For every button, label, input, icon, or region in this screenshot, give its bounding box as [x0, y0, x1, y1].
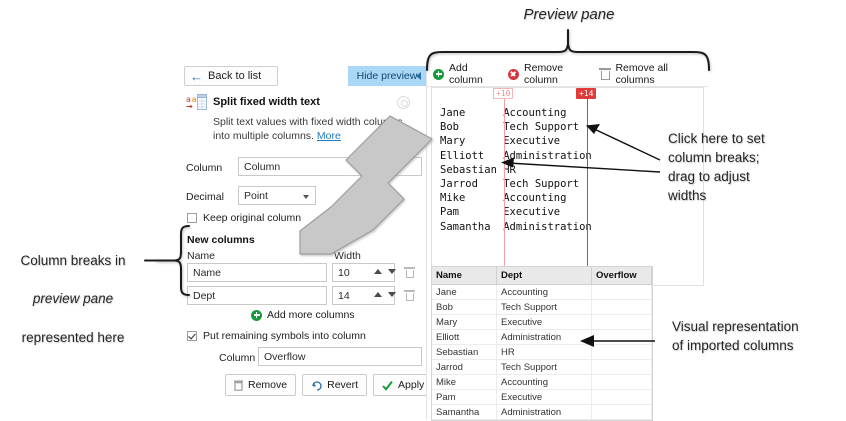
table-row[interactable]: Pam Executive	[432, 390, 652, 405]
cell-name: Samantha	[432, 405, 497, 420]
new-columns-title: New columns	[187, 234, 255, 246]
decimal-select[interactable]: Point	[238, 186, 316, 205]
cell-overflow	[592, 360, 652, 375]
table-row[interactable]: Bob Tech Support	[432, 300, 652, 315]
column-header-dept[interactable]: Dept	[497, 267, 592, 285]
cell-name: Mary	[432, 315, 497, 330]
imported-columns-grid[interactable]: Name Dept Overflow Jane Accounting Bob T…	[431, 266, 653, 421]
column-breaks-annotation-em: preview pane	[33, 291, 113, 306]
column-break-label: +10	[493, 88, 513, 99]
cell-name: Sebastian	[432, 345, 497, 360]
table-row[interactable]: Elliott Administration	[432, 330, 652, 345]
cell-dept: Executive	[497, 390, 592, 405]
hide-preview-label: Hide preview	[357, 70, 418, 82]
cell-overflow	[592, 375, 652, 390]
column-header-overflow[interactable]: Overflow	[592, 267, 652, 285]
column-header-name[interactable]: Name	[432, 267, 497, 285]
move-up-icon[interactable]	[374, 292, 382, 297]
cell-overflow	[592, 330, 652, 345]
cell-dept: HR	[497, 345, 592, 360]
move-down-icon[interactable]	[388, 292, 396, 297]
column-break-handle[interactable]: +14	[587, 96, 588, 281]
table-row[interactable]: Jarrod Tech Support	[432, 360, 652, 375]
width-column-header: Width	[334, 250, 361, 262]
plus-icon	[433, 69, 444, 80]
keep-original-column-checkbox[interactable]: Keep original column	[187, 212, 301, 224]
more-link[interactable]: More	[317, 130, 341, 142]
split-fixed-width-text-window: ← Back to list Hide preview a a Split fi…	[180, 58, 708, 419]
move-up-icon[interactable]	[374, 269, 382, 274]
new-column-width-input[interactable]: 10	[332, 263, 395, 282]
cell-name: Jane	[432, 285, 497, 300]
cell-name: Mike	[432, 375, 497, 390]
remove-button-label: Remove	[248, 379, 287, 391]
revert-button-label: Revert	[327, 379, 358, 391]
column-break-handle[interactable]: +10	[504, 96, 505, 281]
check-icon	[382, 380, 393, 391]
add-more-columns-button[interactable]: Add more columns	[251, 309, 355, 321]
cell-name: Bob	[432, 300, 497, 315]
preview-pane-annotation: Preview pane	[479, 4, 659, 25]
table-row[interactable]: Samantha Administration	[432, 405, 652, 420]
click-here-annotation: Click here to set column breaks; drag to…	[668, 129, 843, 206]
checkbox-box	[187, 331, 197, 341]
decimal-field-label: Decimal	[186, 191, 224, 203]
put-remaining-symbols-label: Put remaining symbols into column	[203, 330, 366, 342]
table-row[interactable]: Mary Executive	[432, 315, 652, 330]
back-to-list-label: Back to list	[208, 70, 261, 82]
preview-raw-text: Jane Accounting Bob Tech Support Mary Ex…	[440, 106, 592, 234]
column-break-label: +14	[576, 88, 596, 99]
plus-icon	[251, 310, 262, 321]
remove-circle-icon	[508, 69, 519, 80]
add-column-label: Add column	[449, 62, 494, 86]
remove-all-columns-label: Remove all columns	[615, 62, 694, 86]
split-fixed-width-icon: a a	[186, 94, 208, 112]
new-column-width-input[interactable]: 14	[332, 286, 395, 305]
apply-button[interactable]: Apply	[373, 374, 433, 396]
column-input[interactable]: Column	[238, 157, 422, 176]
add-column-button[interactable]: Add column	[433, 62, 494, 86]
new-column-name-input[interactable]: Dept	[187, 286, 327, 305]
trash-icon	[234, 380, 243, 391]
new-column-name-input[interactable]: Name	[187, 263, 327, 282]
add-more-columns-label: Add more columns	[267, 309, 355, 321]
cell-name: Jarrod	[432, 360, 497, 375]
put-remaining-symbols-checkbox[interactable]: Put remaining symbols into column	[187, 330, 366, 342]
operation-description-text: Split text values with fixed width colum…	[213, 116, 403, 142]
cell-dept: Executive	[497, 315, 592, 330]
overflow-column-input[interactable]: Overflow	[258, 347, 422, 366]
back-arrow-icon: ←	[190, 70, 203, 83]
delete-row-icon[interactable]	[405, 267, 414, 278]
column-field-label: Column	[186, 162, 222, 174]
remove-all-columns-button[interactable]: Remove all columns	[600, 62, 694, 86]
cell-name: Pam	[432, 390, 497, 405]
revert-button[interactable]: Revert	[302, 374, 367, 396]
checkbox-box	[187, 213, 197, 223]
operation-description: Split text values with fixed width colum…	[213, 115, 413, 143]
cell-dept: Accounting	[497, 285, 592, 300]
overflow-column-label: Column	[219, 352, 255, 364]
cell-overflow	[592, 405, 652, 420]
cell-name: Elliott	[432, 330, 497, 345]
revert-icon	[311, 380, 322, 391]
move-down-icon[interactable]	[388, 269, 396, 274]
result-table: Name Dept Overflow Jane Accounting Bob T…	[432, 267, 652, 420]
cell-dept: Tech Support	[497, 360, 592, 375]
cell-dept: Administration	[497, 405, 592, 420]
preview-text-area[interactable]: Jane Accounting Bob Tech Support Mary Ex…	[431, 87, 704, 286]
cell-overflow	[592, 390, 652, 405]
svg-text:a: a	[192, 95, 197, 104]
operation-title: Split fixed width text	[213, 96, 320, 108]
svg-text:a: a	[186, 95, 191, 104]
decimal-select-value: Point	[244, 190, 268, 202]
chevron-left-icon	[416, 72, 421, 80]
name-column-header: Name	[187, 250, 215, 262]
back-to-list-button[interactable]: ← Back to list	[184, 66, 278, 86]
cell-dept: Tech Support	[497, 300, 592, 315]
trash-icon	[600, 68, 610, 80]
column-breaks-annotation-line1: Column breaks in	[20, 253, 125, 268]
column-breaks-annotation: Column breaks in preview pane represente…	[2, 232, 144, 347]
cell-dept: Accounting	[497, 375, 592, 390]
table-row[interactable]: Mike Accounting	[432, 375, 652, 390]
table-row[interactable]: Jane Accounting	[432, 285, 652, 300]
cell-overflow	[592, 315, 652, 330]
table-header-row: Name Dept Overflow	[432, 267, 652, 285]
column-breaks-annotation-line3: represented here	[22, 330, 125, 345]
chevron-down-icon	[303, 195, 309, 199]
apply-button-label: Apply	[398, 379, 424, 391]
remove-column-label: Remove column	[524, 62, 586, 86]
delete-row-icon[interactable]	[405, 290, 414, 301]
table-row[interactable]: Sebastian HR	[432, 345, 652, 360]
remove-button[interactable]: Remove	[225, 374, 296, 396]
cell-overflow	[592, 345, 652, 360]
preview-pane: Add column Remove column Remove all colu…	[427, 58, 708, 419]
visual-representation-annotation: Visual representation of imported column…	[672, 317, 844, 355]
keep-original-column-label: Keep original column	[203, 212, 301, 224]
preview-toolbar: Add column Remove column Remove all colu…	[427, 62, 708, 87]
cell-dept: Administration	[497, 330, 592, 345]
cell-overflow	[592, 300, 652, 315]
settings-panel: ← Back to list Hide preview a a Split fi…	[180, 58, 426, 419]
hide-preview-button[interactable]: Hide preview	[348, 66, 426, 86]
cell-overflow	[592, 285, 652, 300]
help-icon[interactable]	[397, 96, 410, 109]
remove-column-button[interactable]: Remove column	[508, 62, 586, 86]
